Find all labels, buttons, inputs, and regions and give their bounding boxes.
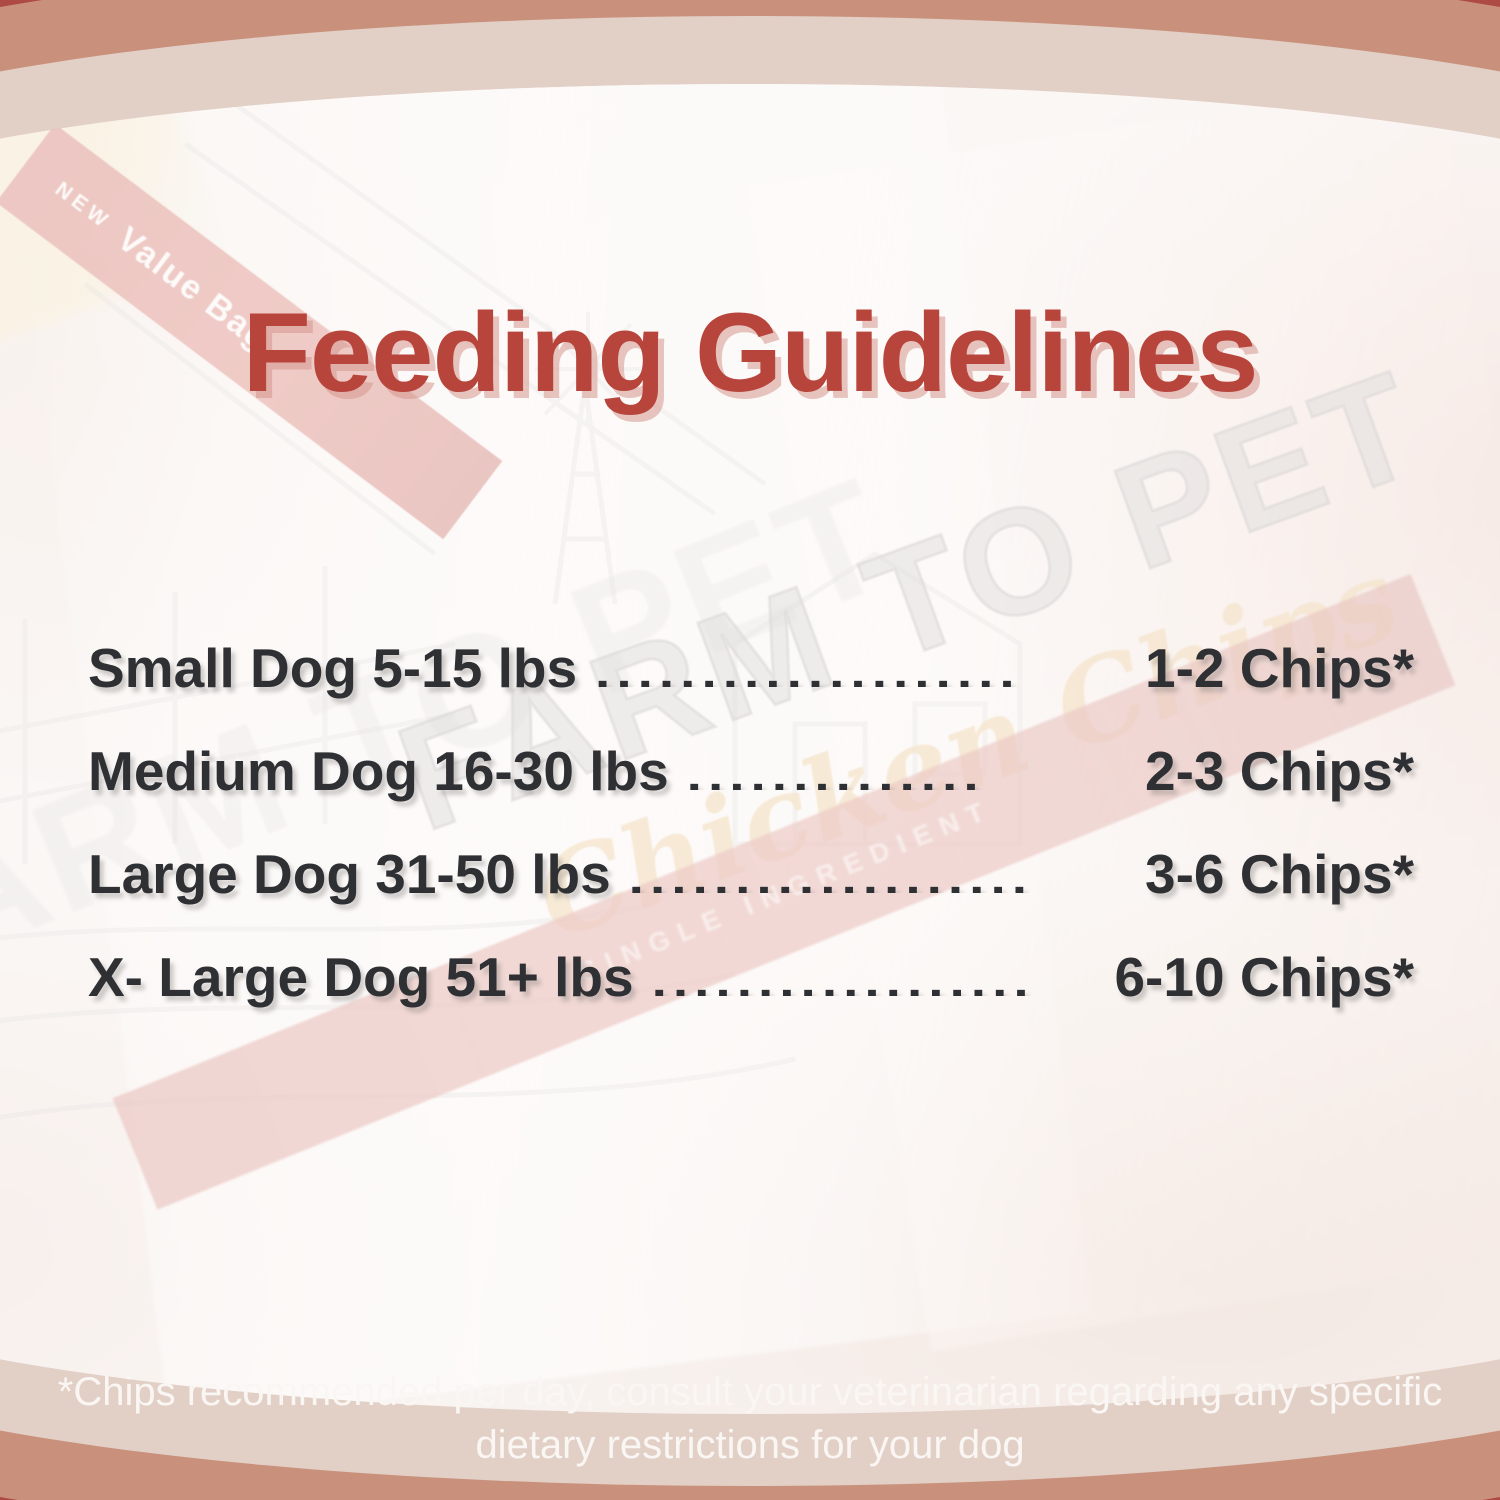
page-title: Feeding Guidelines — [0, 288, 1500, 417]
poster-content: Feeding Guidelines Small Dog 5-15 lbs ..… — [0, 0, 1500, 1500]
guideline-size-label: Large Dog 31-50 lbs — [88, 842, 611, 906]
feeding-guidelines-poster: FARM TO PET FARM TO PET Chicken Chips NE… — [0, 0, 1500, 1500]
guideline-row: Large Dog 31-50 lbs ................... … — [88, 842, 1414, 945]
guideline-dot-leader: ................... — [629, 860, 1129, 893]
footnote-line-2: dietary restrictions for your dog — [34, 1419, 1466, 1472]
guideline-amount: 6-10 Chips* — [1114, 945, 1414, 1009]
guideline-row: Small Dog 5-15 lbs .................... … — [88, 636, 1414, 739]
feeding-guidelines-list: Small Dog 5-15 lbs .................... … — [88, 636, 1414, 1048]
guideline-dot-leader: .................. — [652, 963, 1099, 996]
guideline-row: Medium Dog 16-30 lbs .............. 2-3 … — [88, 739, 1414, 842]
guideline-row: X- Large Dog 51+ lbs .................. … — [88, 945, 1414, 1048]
guideline-size-label: Medium Dog 16-30 lbs — [88, 739, 669, 803]
guideline-amount: 3-6 Chips* — [1145, 842, 1414, 906]
footnote: *Chips recommended per day, consult your… — [0, 1366, 1500, 1472]
guideline-size-label: Small Dog 5-15 lbs — [88, 636, 577, 700]
guideline-amount: 1-2 Chips* — [1145, 636, 1414, 700]
guideline-amount: 2-3 Chips* — [1145, 739, 1414, 803]
footnote-line-1: *Chips recommended per day, consult your… — [34, 1366, 1466, 1419]
guideline-dot-leader: .................... — [595, 654, 1129, 687]
guideline-size-label: X- Large Dog 51+ lbs — [88, 945, 634, 1009]
guideline-dot-leader: .............. — [687, 757, 1129, 790]
